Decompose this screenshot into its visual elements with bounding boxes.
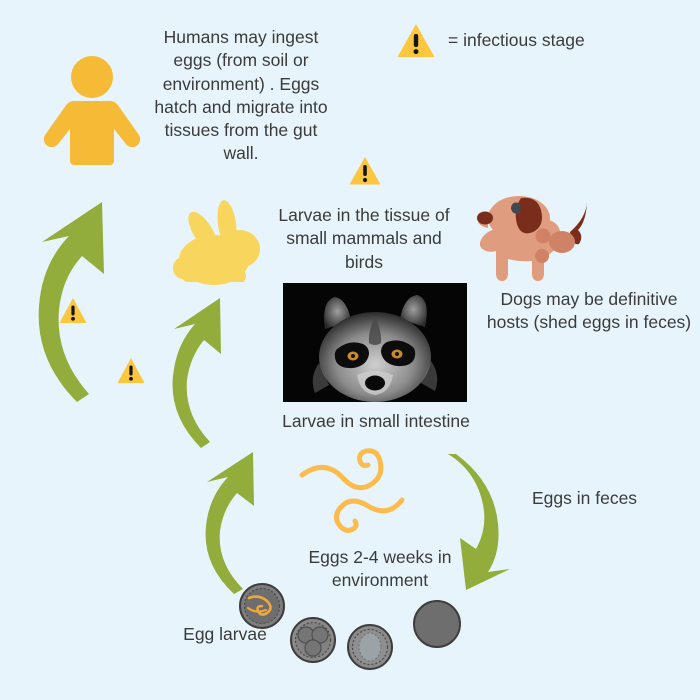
- human-figure-icon: [42, 55, 142, 165]
- small-intestine-label: Larvae in small intestine: [252, 410, 500, 433]
- dogs-definitive-hosts-label: Dogs may be definitive hosts (shed eggs …: [483, 288, 695, 335]
- arrow-intestine-to-small-mammals: [155, 290, 245, 450]
- arrow-feces-to-eggs: [452, 450, 548, 590]
- larvae-worm-icon: [292, 444, 416, 540]
- egg-unembryonated: [414, 601, 460, 647]
- dog-illustration-icon: [474, 186, 596, 288]
- lifecycle-diagram: = infectious stage Humans may ingest egg…: [0, 0, 700, 700]
- raccoon-photo: [283, 283, 467, 402]
- small-mammals-label: Larvae in the tissue of small mammals an…: [268, 204, 460, 274]
- egg-four-cell: [291, 618, 335, 662]
- arrow-eggs-to-intestine: [190, 448, 282, 596]
- legend-label: = infectious stage: [448, 29, 678, 52]
- warning-triangle-left-path: [58, 296, 88, 325]
- rabbit-silhouette-icon: [174, 198, 272, 290]
- humans-ingest-label: Humans may ingest eggs (from soil or env…: [146, 26, 336, 166]
- warning-triangle-mid-path: [116, 356, 146, 385]
- eggs-in-feces-label: Eggs in feces: [532, 487, 692, 510]
- egg-morula: [348, 625, 392, 669]
- warning-triangle-tissue-stage: [348, 155, 382, 187]
- legend-warning-icon: [396, 22, 436, 60]
